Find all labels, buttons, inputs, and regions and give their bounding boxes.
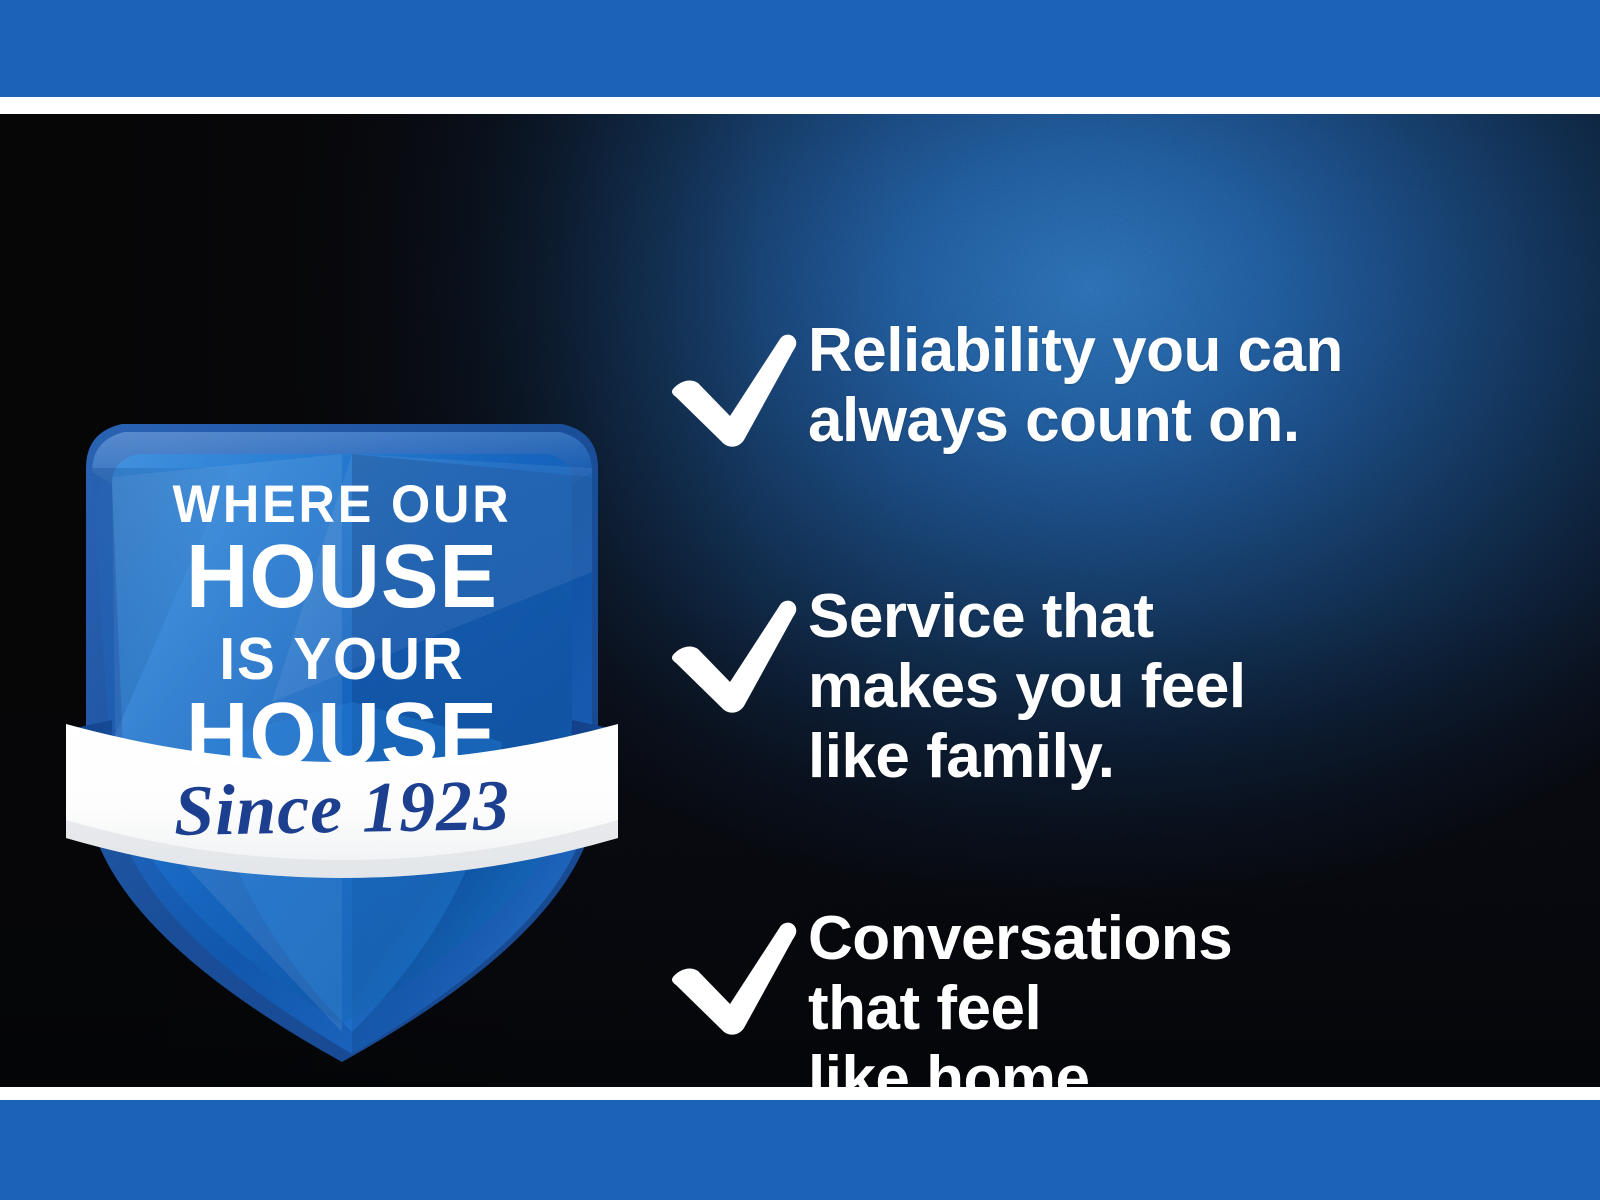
shield-emblem: WHERE OUR HOUSE IS YOUR HOUSE Since 1923 xyxy=(52,272,632,1072)
benefit-item: Service that makes you feel like family. xyxy=(668,582,1246,792)
top-white-divider xyxy=(0,97,1600,114)
shield-line-where: WHERE OUR xyxy=(67,478,618,531)
promo-graphic: WHERE OUR HOUSE IS YOUR HOUSE Since 1923… xyxy=(0,0,1600,1200)
check-icon xyxy=(668,904,808,1036)
shield-line-house-2: HOUSE xyxy=(64,690,621,780)
benefit-text: Service that makes you feel like family. xyxy=(808,582,1246,792)
bottom-white-divider xyxy=(0,1087,1600,1100)
top-brand-bar xyxy=(0,0,1600,97)
content-stage: WHERE OUR HOUSE IS YOUR HOUSE Since 1923… xyxy=(0,114,1600,1087)
shield-line-is-your: IS YOUR xyxy=(64,630,621,689)
shield-ribbon-since-text: Since 1923 xyxy=(51,767,632,849)
shield-line-house-1: HOUSE xyxy=(64,532,621,622)
benefit-item: Reliability you can always count on. xyxy=(668,316,1343,456)
bottom-brand-bar xyxy=(0,1100,1600,1200)
benefit-text: Conversations that feel like home. xyxy=(808,904,1232,1087)
benefit-item: Conversations that feel like home. xyxy=(668,904,1232,1087)
check-icon xyxy=(668,316,808,448)
benefit-text: Reliability you can always count on. xyxy=(808,316,1343,456)
check-icon xyxy=(668,582,808,714)
